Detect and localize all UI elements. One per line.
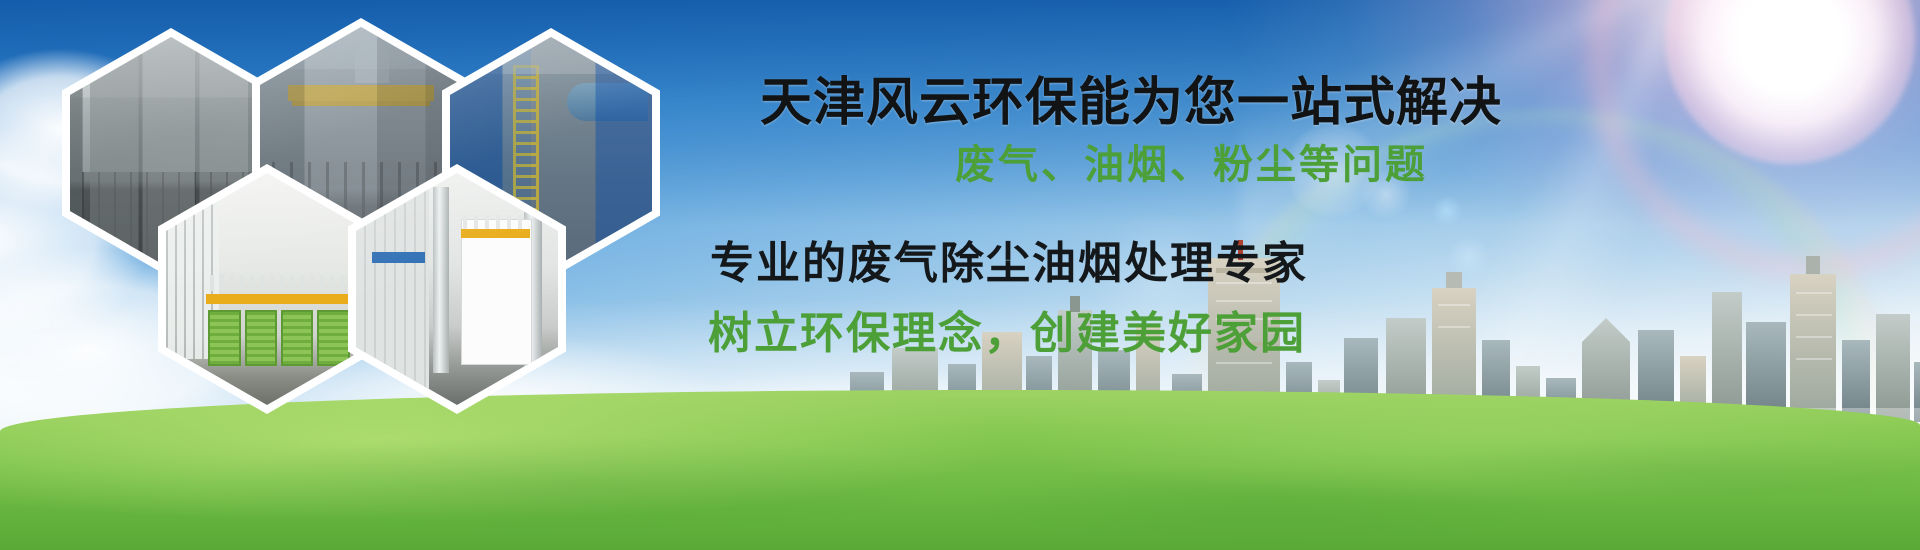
banner-tagline-secondary: 树立环保理念，创建美好家园 <box>708 297 1306 361</box>
banner-headline: 天津风云环保能为您一站式解决 <box>760 60 1502 135</box>
banner-copy: 天津风云环保能为您一站式解决 废气、油烟、粉尘等问题 专业的废气除尘油烟处理专家… <box>700 52 1760 412</box>
hexagon-photo-cluster <box>62 18 682 418</box>
banner-tagline-primary: 专业的废气除尘油烟处理专家 <box>710 227 1308 291</box>
banner-subline: 废气、油烟、粉尘等问题 <box>955 132 1428 190</box>
hero-banner: 天津风云环保能为您一站式解决 废气、油烟、粉尘等问题 专业的废气除尘油烟处理专家… <box>0 0 1920 550</box>
